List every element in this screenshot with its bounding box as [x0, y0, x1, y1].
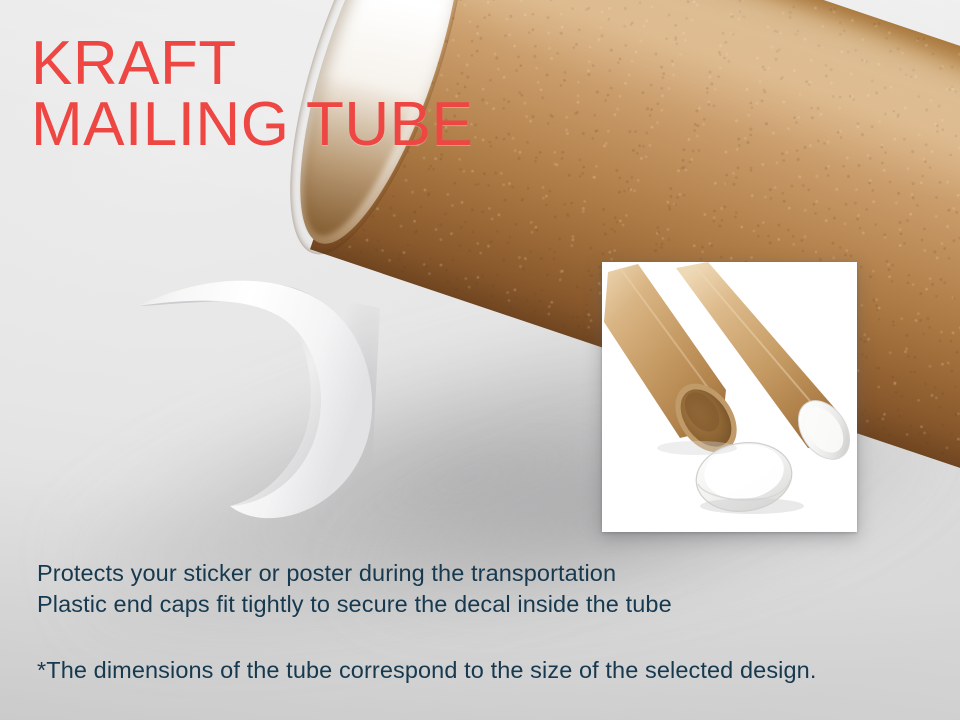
product-banner: KRAFTMAILING TUBE Protects your sticker … [0, 0, 960, 720]
poster-curl [118, 248, 438, 538]
inset-tube-shadow [657, 441, 737, 455]
page-title: KRAFTMAILING TUBE [31, 34, 473, 156]
feature-copy: Protects your sticker or poster during t… [37, 558, 672, 620]
footnote: *The dimensions of the tube correspond t… [37, 655, 816, 685]
inset-product-photo [602, 262, 857, 532]
inset-cap-shadow [700, 498, 804, 514]
headline-line-2: MAILING TUBE [31, 95, 473, 156]
poster-face [138, 281, 372, 518]
headline-line-1: KRAFT [31, 29, 237, 98]
feature-line-2: Plastic end caps fit tightly to secure t… [37, 591, 672, 617]
feature-line-1: Protects your sticker or poster during t… [37, 560, 616, 586]
